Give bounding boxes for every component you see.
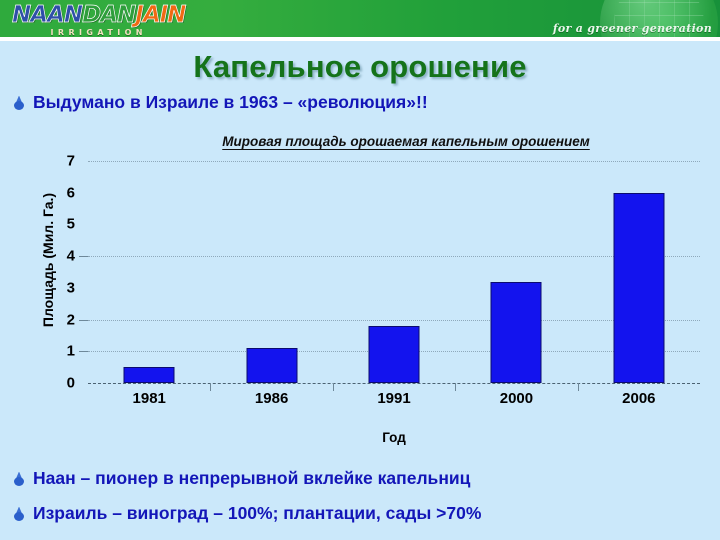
bullet-item-3: Израиль – виноград – 100%; плантации, са… bbox=[14, 503, 481, 524]
x-axis-label: Год bbox=[88, 430, 700, 445]
chart-plot-area: 01234567 bbox=[88, 161, 700, 383]
header-banner: for a greener generation NAANDANJAIN IRR… bbox=[0, 0, 720, 41]
chart-title: Мировая площадь орошаемая капельным орош… bbox=[106, 134, 706, 149]
y-axis-tick-label: 3 bbox=[67, 279, 75, 296]
logo-part-naan: NAAN bbox=[12, 2, 82, 28]
x-axis-tick-label: 2006 bbox=[578, 390, 700, 407]
y-axis-tick-label: 7 bbox=[67, 153, 75, 170]
x-axis-tick-label: 1991 bbox=[333, 390, 455, 407]
logo-wordmark: NAANDANJAIN bbox=[12, 3, 185, 27]
logo-part-dan: DAN bbox=[82, 2, 135, 28]
gridline bbox=[88, 383, 700, 384]
bullet-item-1: Выдумано в Израиле в 1963 – «революция»!… bbox=[14, 92, 428, 113]
bar bbox=[369, 326, 420, 383]
y-axis-tick bbox=[79, 351, 88, 352]
bar-slot bbox=[210, 161, 332, 383]
water-drop-icon bbox=[14, 96, 24, 110]
y-axis-tick-label: 6 bbox=[67, 184, 75, 201]
y-axis-label: Площадь (Мил. Га.) bbox=[40, 160, 56, 360]
y-axis-tick-label: 1 bbox=[67, 343, 75, 360]
x-axis-tick-labels: 19811986199120002006 bbox=[88, 390, 700, 407]
y-axis-tick-label: 0 bbox=[67, 375, 75, 392]
tagline-text: for a greener generation bbox=[553, 22, 712, 35]
bar-slot bbox=[455, 161, 577, 383]
y-axis-tick bbox=[79, 320, 88, 321]
bar-slot bbox=[88, 161, 210, 383]
bullet-text-2: Наан – пионер в непрерывной вклейке капе… bbox=[33, 468, 470, 489]
bar bbox=[613, 193, 664, 383]
bars-container bbox=[88, 161, 700, 383]
y-axis-tick bbox=[79, 256, 88, 257]
logo-part-jain: JAIN bbox=[135, 2, 185, 28]
bar-chart: Мировая площадь орошаемая капельным орош… bbox=[10, 132, 710, 452]
x-axis-tick-label: 1981 bbox=[88, 390, 210, 407]
logo-subtitle: IRRIGATION bbox=[12, 28, 185, 37]
bullet-item-2: Наан – пионер в непрерывной вклейке капе… bbox=[14, 468, 470, 489]
company-logo: NAANDANJAIN IRRIGATION bbox=[12, 3, 185, 37]
bar-slot bbox=[578, 161, 700, 383]
water-drop-icon bbox=[14, 507, 24, 521]
page-title: Капельное орошение bbox=[0, 49, 720, 85]
bar bbox=[246, 348, 297, 383]
x-axis-tick-label: 2000 bbox=[455, 390, 577, 407]
x-axis-tick-label: 1986 bbox=[210, 390, 332, 407]
water-drop-icon bbox=[14, 472, 24, 486]
bar bbox=[124, 367, 175, 383]
bar-slot bbox=[333, 161, 455, 383]
y-axis-tick-label: 2 bbox=[67, 311, 75, 328]
bullet-text-3: Израиль – виноград – 100%; плантации, са… bbox=[33, 503, 481, 524]
y-axis-tick-label: 4 bbox=[67, 248, 75, 265]
bullet-text-1: Выдумано в Израиле в 1963 – «революция»!… bbox=[33, 92, 428, 113]
y-axis-tick-label: 5 bbox=[67, 216, 75, 233]
bar bbox=[491, 282, 542, 383]
